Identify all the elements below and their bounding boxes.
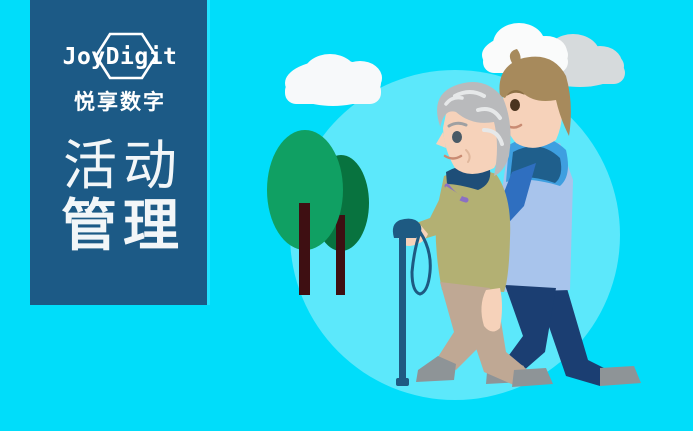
cane-tip [396, 378, 409, 386]
page-title: 活动 管理 [30, 136, 210, 258]
joydigit-logo-mark: JoyDigit [50, 30, 190, 82]
brand-logo: JoyDigit 悦享数字 [30, 30, 210, 130]
cane-handle [393, 219, 421, 238]
page-title-line1: 活动 [30, 136, 210, 196]
poster-canvas: JoyDigit 悦享数字 活动 管理 [0, 0, 693, 431]
woman-back-shoe [512, 368, 553, 387]
young-man-eye [510, 99, 520, 111]
tree-back-trunk [336, 215, 345, 295]
page-title-line2: 管理 [30, 196, 210, 258]
tree-front-trunk [299, 203, 310, 295]
woman-inner-hand [481, 288, 502, 332]
logo-wordmark: JoyDigit [63, 44, 178, 70]
cane-shaft [399, 234, 406, 384]
young-man-back-shoe [600, 366, 641, 386]
brand-name-cn: 悦享数字 [74, 86, 166, 116]
woman-eye [452, 131, 462, 143]
